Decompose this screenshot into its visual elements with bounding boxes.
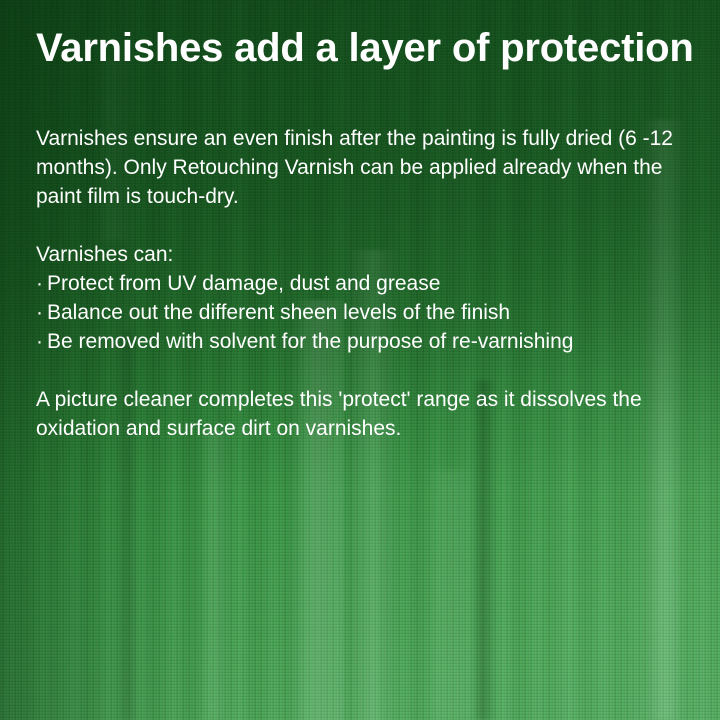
list-item: · Be removed with solvent for the purpos… xyxy=(36,327,676,356)
list-item: · Balance out the different sheen levels… xyxy=(36,298,676,327)
varnish-info-poster: Varnishes add a layer of protection Varn… xyxy=(0,0,720,720)
bullet-dot-icon: · xyxy=(36,269,47,298)
list-item-label: Protect from UV damage, dust and grease xyxy=(47,269,676,298)
bullet-dot-icon: · xyxy=(36,298,47,327)
closing-paragraph: A picture cleaner completes this 'protec… xyxy=(36,385,676,443)
poster-content: Varnishes add a layer of protection Varn… xyxy=(0,0,720,720)
list-intro-text: Varnishes can: xyxy=(36,240,676,269)
bullet-dot-icon: · xyxy=(36,327,47,356)
intro-paragraph: Varnishes ensure an even finish after th… xyxy=(36,124,676,211)
page-title: Varnishes add a layer of protection xyxy=(36,26,694,70)
varnish-benefits-list: · Protect from UV damage, dust and greas… xyxy=(36,269,676,356)
list-item: · Protect from UV damage, dust and greas… xyxy=(36,269,676,298)
paragraph-spacer xyxy=(36,211,676,240)
list-item-label: Be removed with solvent for the purpose … xyxy=(47,327,676,356)
list-item-label: Balance out the different sheen levels o… xyxy=(47,298,676,327)
body-copy: Varnishes ensure an even finish after th… xyxy=(36,124,676,443)
paragraph-spacer xyxy=(36,356,676,385)
